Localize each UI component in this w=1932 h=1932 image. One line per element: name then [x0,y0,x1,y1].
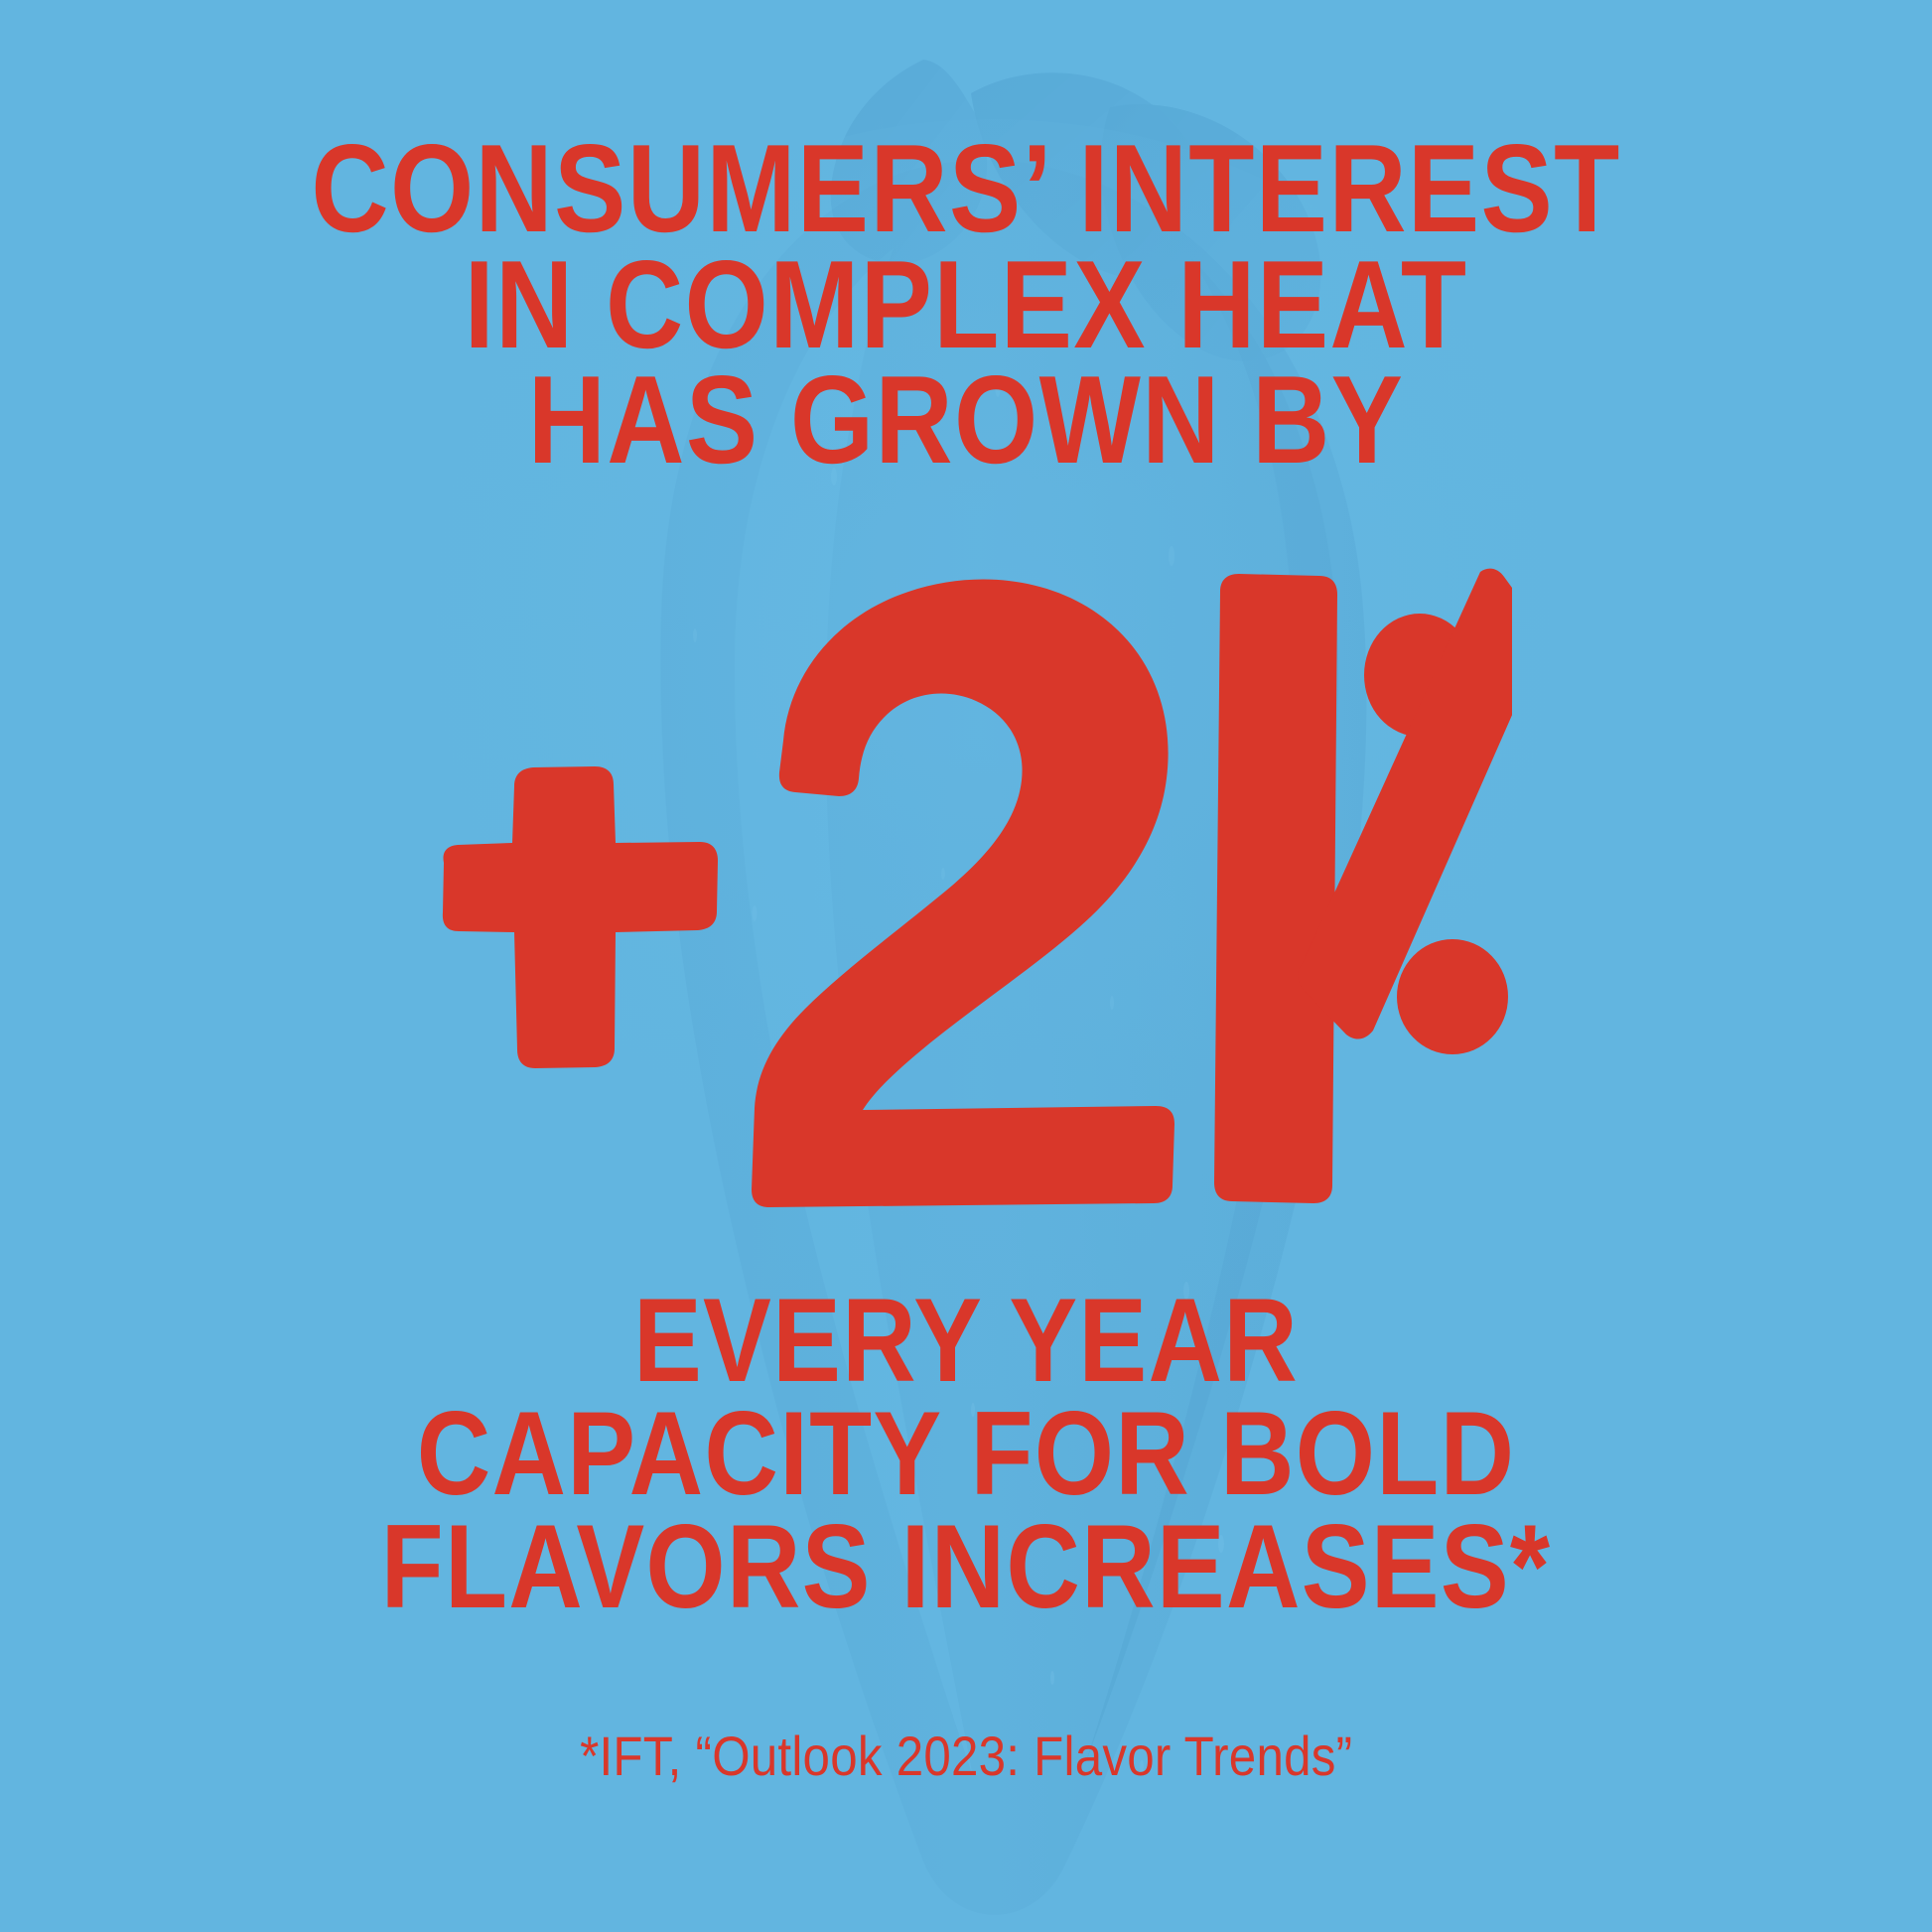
digit-one-glyph [1214,574,1337,1203]
stat-figure: +21% [0,556,1932,1211]
footnote-source: *IFT, “Outlook 2023: Flavor Trends” [0,1724,1932,1788]
digit-two-glyph [752,580,1174,1207]
body-line-2: CAPACITY FOR BOLD [135,1394,1797,1513]
stat-plus-21-percent-icon [420,556,1512,1211]
headline-line-2: IN COMPLEX HEAT [135,243,1797,367]
poster-content: CONSUMERS’ INTEREST IN COMPLEX HEAT HAS … [0,0,1932,1932]
poster-canvas: CONSUMERS’ INTEREST IN COMPLEX HEAT HAS … [0,0,1932,1932]
body-line-3: FLAVORS INCREASES* [135,1507,1797,1626]
headline-line-3: HAS GROWN BY [135,358,1797,483]
headline: CONSUMERS’ INTEREST IN COMPLEX HEAT HAS … [0,127,1932,483]
plus-sign-glyph [443,766,718,1068]
footnote-text: *IFT, “Outlook 2023: Flavor Trends” [580,1724,1352,1788]
headline-line-1: CONSUMERS’ INTEREST [135,127,1797,251]
body-line-1: EVERY YEAR [135,1281,1797,1400]
body-copy: EVERY YEAR CAPACITY FOR BOLD FLAVORS INC… [0,1281,1932,1626]
